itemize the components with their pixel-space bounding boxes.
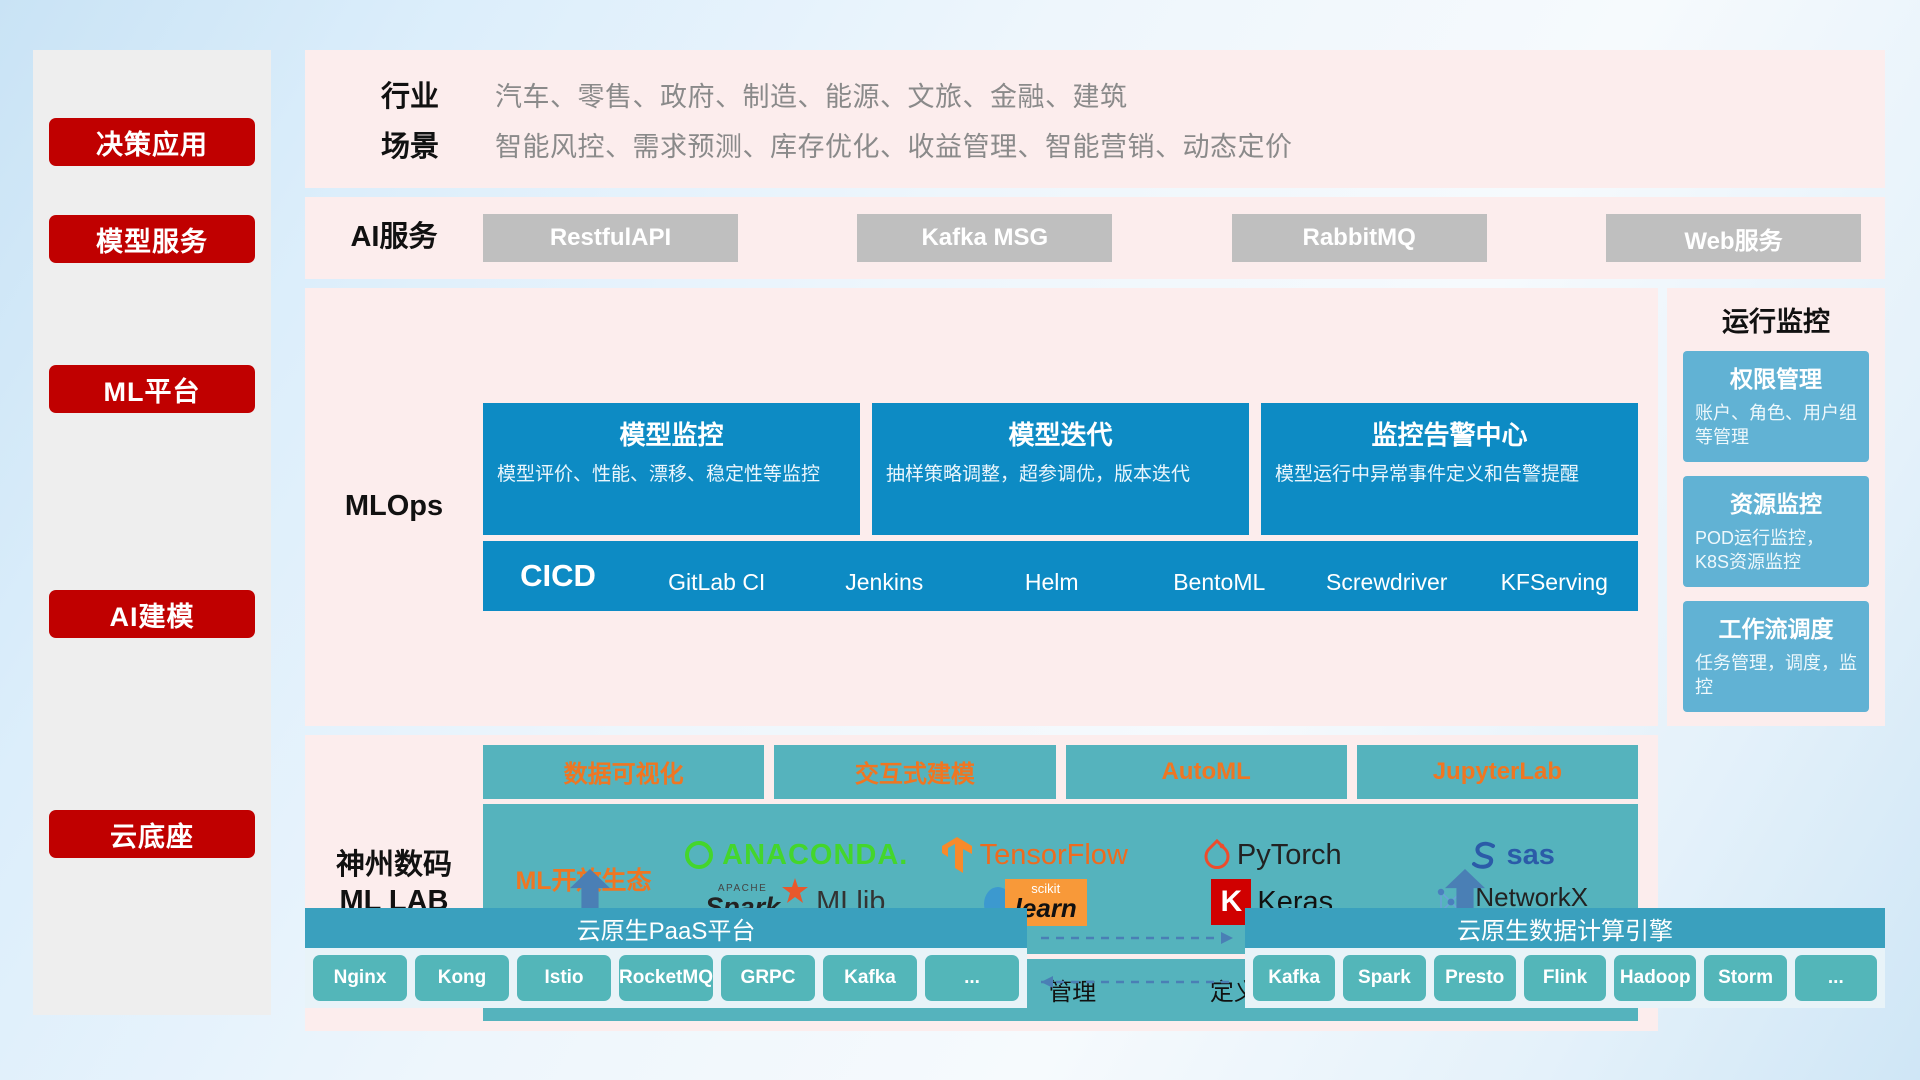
arrow-up-paas-icon [570, 868, 610, 912]
cicd-tool-list: GitLab CI Jenkins Helm BentoML Screwdriv… [633, 555, 1638, 596]
mlops-content: 模型监控 模型评价、性能、漂移、稳定性等监控 模型迭代 抽样策略调整，超参调优，… [483, 403, 1638, 611]
stage-label: ML平台 [104, 370, 201, 409]
stage-label: AI建模 [110, 595, 195, 634]
paas-chip-nginx[interactable]: Nginx [313, 955, 407, 1001]
compute-chip-spark[interactable]: Spark [1343, 955, 1425, 1001]
pytorch-logo[interactable]: PyTorch [1153, 838, 1392, 872]
tab-jupyterlab[interactable]: JupyterLab [1357, 745, 1638, 799]
decision-apps-band: 行业 汽车、零售、政府、制造、能源、文旅、金融、建筑 场景 智能风控、需求预测、… [305, 50, 1885, 188]
monitor-card-permission[interactable]: 权限管理 账户、角色、用户组等管理 [1683, 351, 1869, 462]
card-title: 监控告警中心 [1275, 415, 1624, 452]
service-rabbitmq[interactable]: RabbitMQ [1232, 214, 1487, 262]
stage-ml-platform[interactable]: ML平台 [49, 365, 255, 413]
industry-value: 汽车、零售、政府、制造、能源、文旅、金融、建筑 [495, 75, 1128, 114]
paas-chip-kafka[interactable]: Kafka [823, 955, 917, 1001]
scenario-value: 智能风控、需求预测、库存优化、收益管理、智能营销、动态定价 [495, 125, 1293, 164]
card-desc: 模型评价、性能、漂移、稳定性等监控 [497, 462, 846, 489]
card-desc: 任务管理，调度，监控 [1695, 651, 1857, 700]
paas-chip-grpc[interactable]: GRPC [721, 955, 815, 1001]
service-web[interactable]: Web服务 [1606, 214, 1861, 262]
card-title: 资源监控 [1695, 485, 1857, 519]
paas-chip-more[interactable]: ... [925, 955, 1019, 1001]
card-desc: POD运行监控，K8S资源监控 [1695, 526, 1857, 575]
ml-lab-label-line1: 神州数码 [305, 847, 483, 883]
stage-label: 模型服务 [96, 220, 208, 259]
compute-chip-hadoop[interactable]: Hadoop [1614, 955, 1696, 1001]
cicd-bar: CICD GitLab CI Jenkins Helm BentoML Scre… [483, 541, 1638, 611]
tab-automl[interactable]: AutoML [1066, 745, 1347, 799]
cicd-tool-bentoml[interactable]: BentoML [1136, 555, 1304, 596]
stage-decision-apps[interactable]: 决策应用 [49, 118, 255, 166]
mlops-card-model-iteration[interactable]: 模型迭代 抽样策略调整，超参调优，版本迭代 [872, 403, 1249, 535]
compute-chip-more[interactable]: ... [1795, 955, 1877, 1001]
mlops-section: MLOps 模型监控 模型评价、性能、漂移、稳定性等监控 模型迭代 抽样策略调整… [305, 288, 1658, 726]
paas-chip-kong[interactable]: Kong [415, 955, 509, 1001]
compute-chip-presto[interactable]: Presto [1434, 955, 1516, 1001]
cloud-compute-chip-list: Kafka Spark Presto Flink Hadoop Storm ..… [1245, 948, 1885, 1008]
card-title: 工作流调度 [1695, 610, 1857, 644]
stage-label: 决策应用 [96, 123, 208, 162]
mlops-card-alert-center[interactable]: 监控告警中心 模型运行中异常事件定义和告警提醒 [1261, 403, 1638, 535]
ml-platform-band: MLOps 模型监控 模型评价、性能、漂移、稳定性等监控 模型迭代 抽样策略调整… [305, 288, 1885, 726]
arrow-up-compute-icon [1445, 868, 1485, 912]
cicd-tool-kfserving[interactable]: KFServing [1471, 555, 1639, 596]
card-title: 模型监控 [497, 415, 846, 452]
monitoring-title: 运行监控 [1683, 300, 1869, 339]
cloud-paas-title: 云原生PaaS平台 [305, 908, 1027, 948]
cloud-paas-chip-list: Nginx Kong Istio RocketMQ GRPC Kafka ... [305, 948, 1027, 1008]
cicd-tool-screwdriver[interactable]: Screwdriver [1303, 555, 1471, 596]
tensorflow-logo[interactable]: TensorFlow [915, 835, 1154, 875]
monitor-card-resource[interactable]: 资源监控 POD运行监控，K8S资源监控 [1683, 476, 1869, 587]
mlops-card-model-monitoring[interactable]: 模型监控 模型评价、性能、漂移、稳定性等监控 [483, 403, 860, 535]
paas-chip-rocketmq[interactable]: RocketMQ [619, 955, 713, 1001]
runtime-monitoring-sidebar: 运行监控 权限管理 账户、角色、用户组等管理 资源监控 POD运行监控，K8S资… [1667, 288, 1885, 726]
stage-ai-modeling[interactable]: AI建模 [49, 590, 255, 638]
cloud-base-row: 云原生PaaS平台 Nginx Kong Istio RocketMQ GRPC… [305, 890, 1885, 1015]
tab-data-visualization[interactable]: 数据可视化 [483, 745, 764, 799]
logo-text: PyTorch [1237, 839, 1342, 872]
paas-compute-link [1027, 920, 1247, 1000]
logo-text: ANACONDA. [722, 839, 908, 872]
service-restfulapi[interactable]: RestfulAPI [483, 214, 738, 262]
ai-service-label: AI服务 [305, 220, 483, 255]
cicd-tool-gitlab-ci[interactable]: GitLab CI [633, 555, 801, 596]
ai-service-band: AI服务 RestfulAPI Kafka MSG RabbitMQ Web服务 [305, 197, 1885, 279]
main-stack: 行业 汽车、零售、政府、制造、能源、文旅、金融、建筑 场景 智能风控、需求预测、… [305, 50, 1885, 1031]
scenario-row: 场景 智能风控、需求预测、库存优化、收益管理、智能营销、动态定价 [325, 119, 1865, 169]
compute-chip-storm[interactable]: Storm [1704, 955, 1786, 1001]
logo-text: TensorFlow [980, 839, 1128, 872]
sas-logo[interactable]: sas [1392, 838, 1631, 872]
tab-interactive-modeling[interactable]: 交互式建模 [774, 745, 1055, 799]
monitor-card-workflow[interactable]: 工作流调度 任务管理，调度，监控 [1683, 601, 1869, 712]
card-desc: 账户、角色、用户组等管理 [1695, 401, 1857, 450]
mlops-card-list: 模型监控 模型评价、性能、漂移、稳定性等监控 模型迭代 抽样策略调整，超参调优，… [483, 403, 1638, 535]
cloud-compute-title: 云原生数据计算引擎 [1245, 908, 1885, 948]
compute-chip-flink[interactable]: Flink [1524, 955, 1606, 1001]
cicd-tool-helm[interactable]: Helm [968, 555, 1136, 596]
cloud-compute-group: 云原生数据计算引擎 Kafka Spark Presto Flink Hadoo… [1245, 908, 1885, 1008]
card-desc: 模型运行中异常事件定义和告警提醒 [1275, 462, 1624, 489]
mlops-label: MLOps [305, 489, 483, 524]
stage-model-service[interactable]: 模型服务 [49, 215, 255, 263]
ml-lab-tab-list: 数据可视化 交互式建模 AutoML JupyterLab [483, 745, 1638, 799]
stage-label-column: 决策应用 模型服务 ML平台 AI建模 云底座 [33, 50, 271, 1015]
industry-label: 行业 [325, 73, 495, 115]
paas-chip-istio[interactable]: Istio [517, 955, 611, 1001]
ai-service-list: RestfulAPI Kafka MSG RabbitMQ Web服务 [483, 214, 1867, 262]
stage-cloud-base[interactable]: 云底座 [49, 810, 255, 858]
service-kafka-msg[interactable]: Kafka MSG [857, 214, 1112, 262]
card-title: 模型迭代 [886, 415, 1235, 452]
architecture-diagram: 决策应用 模型服务 ML平台 AI建模 云底座 行业 汽车、零售、政府、制造、能… [0, 0, 1920, 1080]
compute-chip-kafka[interactable]: Kafka [1253, 955, 1335, 1001]
anaconda-logo[interactable]: ANACONDA. [676, 838, 915, 872]
industry-row: 行业 汽车、零售、政府、制造、能源、文旅、金融、建筑 [325, 69, 1865, 119]
stage-label: 云底座 [110, 815, 194, 854]
cicd-label: CICD [483, 558, 633, 594]
card-title: 权限管理 [1695, 360, 1857, 394]
logo-text: sas [1507, 839, 1555, 872]
scenario-label: 场景 [325, 123, 495, 165]
card-desc: 抽样策略调整，超参调优，版本迭代 [886, 462, 1235, 489]
cloud-paas-group: 云原生PaaS平台 Nginx Kong Istio RocketMQ GRPC… [305, 908, 1027, 1008]
cicd-tool-jenkins[interactable]: Jenkins [801, 555, 969, 596]
